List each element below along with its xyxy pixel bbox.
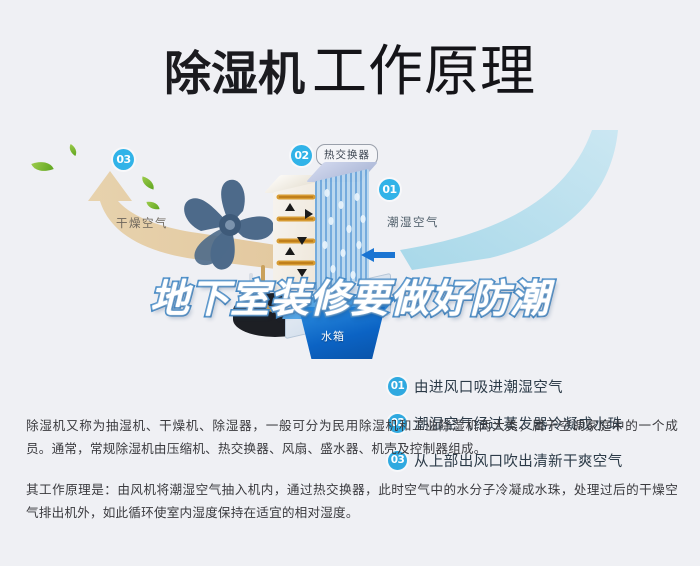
diagram-badge-03: 03	[113, 149, 134, 170]
body-copy: 除湿机又称为抽湿机、干燥机、除湿器，一般可分为民用除湿机和工业除湿机两大类，属于…	[26, 414, 678, 542]
paragraph-1: 除湿机又称为抽湿机、干燥机、除湿器，一般可分为民用除湿机和工业除湿机两大类，属于…	[26, 414, 678, 460]
intake-arrow-tail	[373, 252, 395, 258]
legend-item: 01 由进风口吸进潮湿空气	[388, 368, 678, 405]
infographic-page: 除湿机工作原理 干燥空气 潮湿空气 03	[0, 0, 700, 566]
humid-air-arrow-icon	[370, 130, 620, 270]
legend-text-01: 由进风口吸进潮湿空气	[414, 376, 563, 397]
paragraph-2: 其工作原理是：由风机将潮湿空气抽入机内，通过热交换器，此时空气中的水分子冷凝成水…	[26, 478, 678, 524]
legend-badge-01: 01	[388, 377, 407, 396]
overlay-headline: 地下室装修要做好防潮	[0, 268, 700, 324]
dry-air-label: 干燥空气	[116, 215, 168, 231]
page-title-part1: 除湿机	[164, 47, 305, 102]
diagram-stage: 干燥空气 潮湿空气 03 02 01 热交换器	[0, 125, 700, 400]
page-title: 除湿机工作原理	[0, 26, 700, 106]
page-title-part2: 工作原理	[312, 39, 536, 103]
water-tank-label: 水箱	[321, 328, 345, 344]
